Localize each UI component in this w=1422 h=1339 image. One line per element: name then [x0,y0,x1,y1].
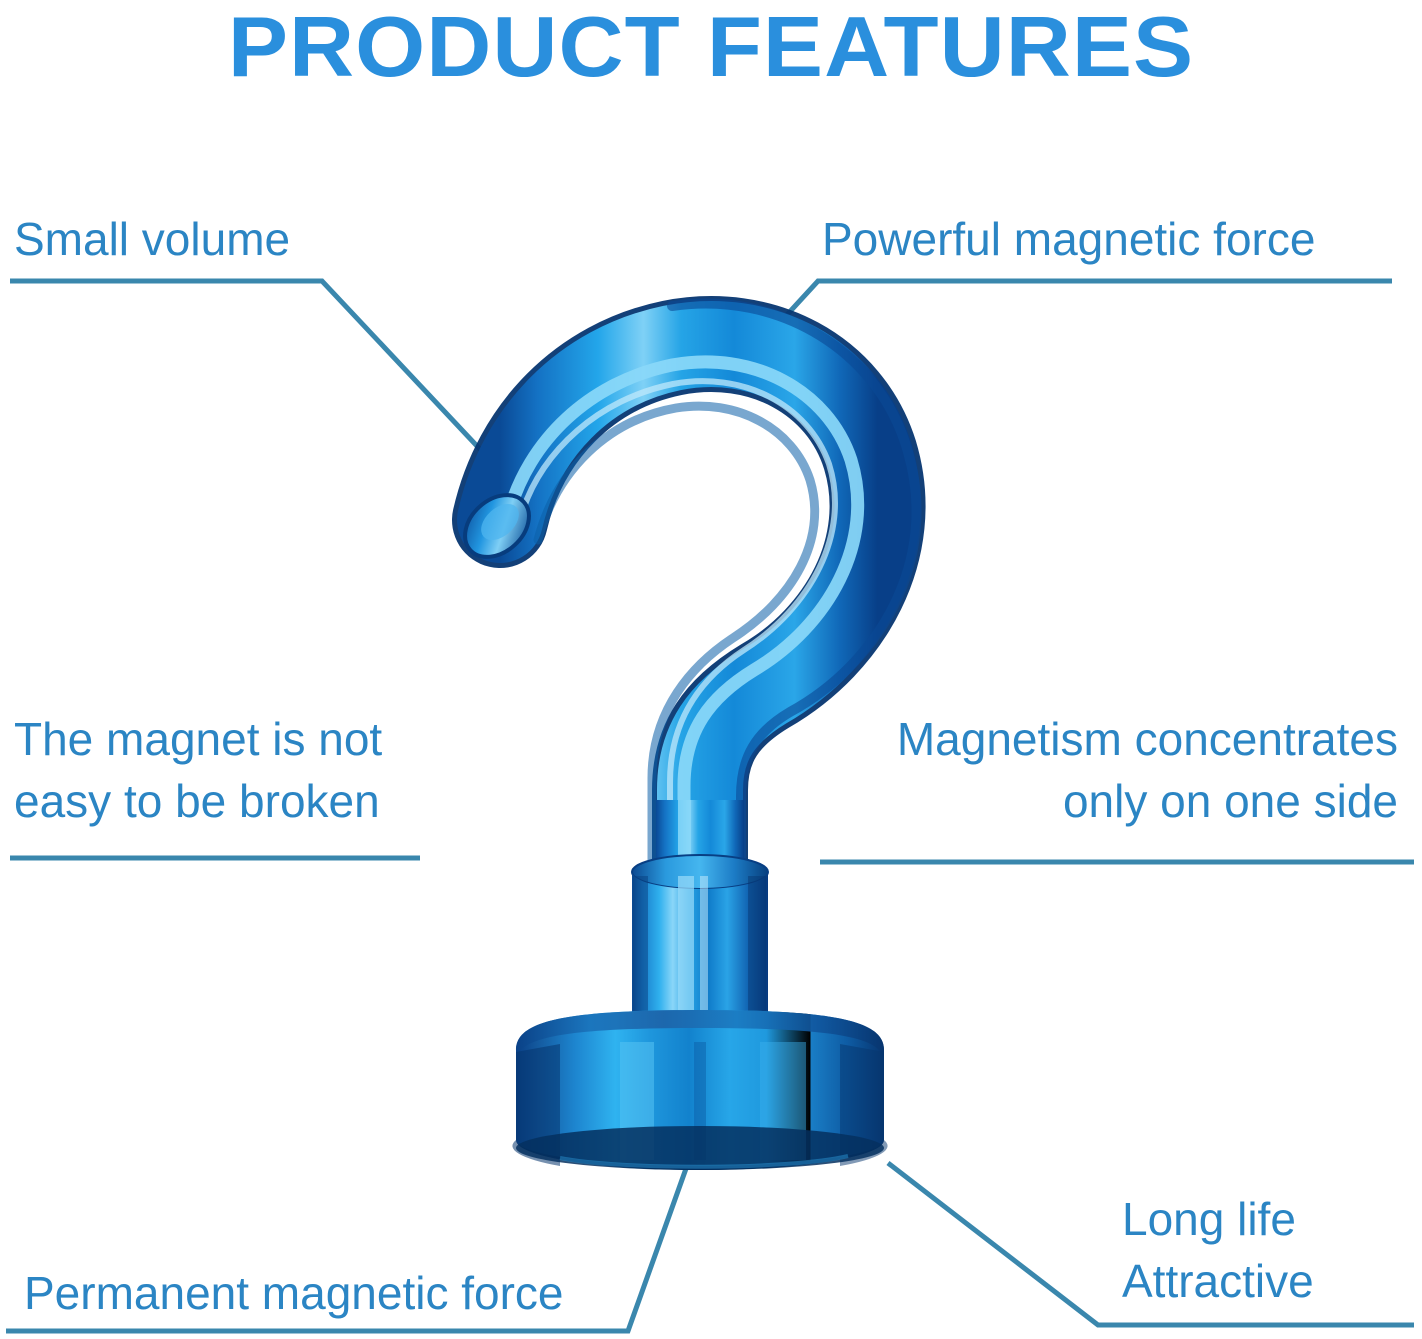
hook-specular-highlight [508,362,858,872]
callout-long-life-line2: Attractive [1122,1250,1314,1312]
callout-permanent-magnetic-force: Permanent magnetic force [24,1262,564,1324]
hook-inner-shade [538,406,815,864]
hook-shaft [656,800,744,890]
leader-small-volume [10,281,492,462]
product-illustration-and-leaders [0,0,1422,1339]
hook-shaft-highlight [678,800,691,890]
hook-secondary-highlight [523,381,835,866]
callout-powerful-magnetic-force: Powerful magnetic force [822,208,1315,270]
callout-magnetism-one-side-line1: Magnetism concentrates [818,708,1398,770]
callout-long-life-line1: Long life [1122,1188,1314,1250]
magnet-collar [632,855,768,1050]
page-title: PRODUCT FEATURES [0,2,1422,94]
callout-not-easy-broken-line2: easy to be broken [14,770,382,832]
callout-small-volume: Small volume [14,208,290,270]
callout-magnetism-one-side-line2: only on one side [818,770,1398,832]
callout-long-life-attractive: Long life Attractive [1122,1188,1314,1312]
magnet-base-disc [512,1010,887,1170]
callout-not-easy-broken: The magnet is not easy to be broken [14,708,382,832]
hook-tip [453,483,541,570]
callout-not-easy-broken-line1: The magnet is not [14,708,382,770]
infographic-canvas: PRODUCT FEATURES [0,0,1422,1339]
leader-powerful-force [762,281,1392,342]
callout-magnetism-one-side: Magnetism concentrates only on one side [818,708,1398,832]
